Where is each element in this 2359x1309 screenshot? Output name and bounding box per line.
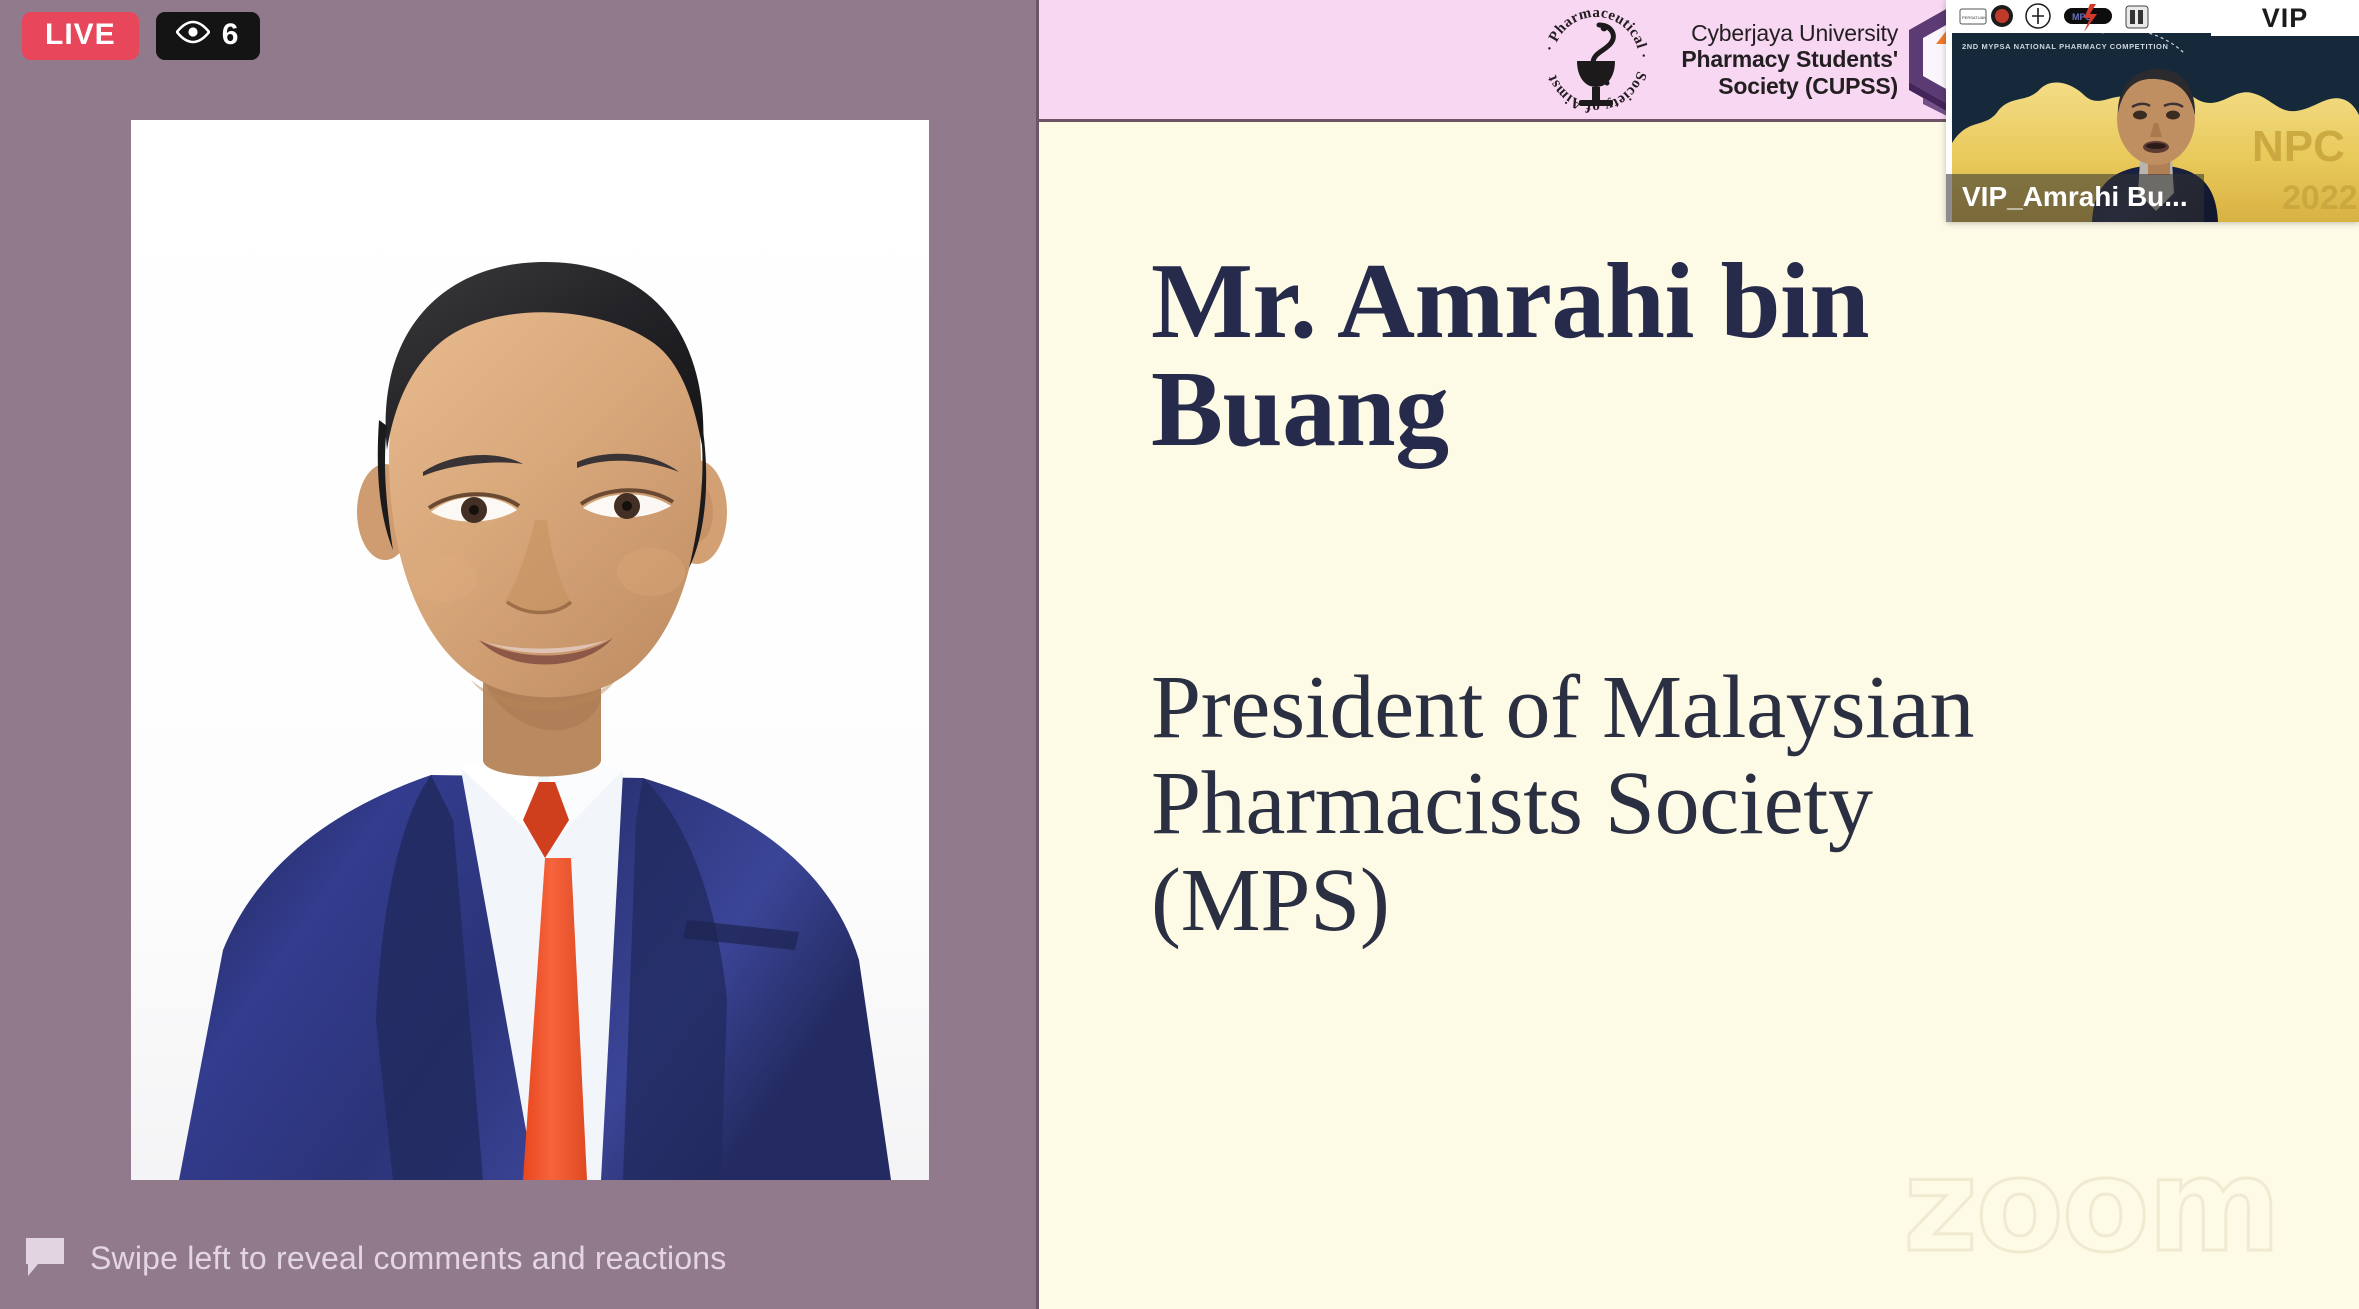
zoom-watermark: zoom (1903, 1143, 2279, 1271)
pip-background-year: 2022 (2282, 179, 2358, 217)
slide-subtitle: President of Malaysian Pharmacists Socie… (1151, 660, 2241, 949)
cupss-line-1: Cyberjaya University (1681, 20, 1898, 46)
pip-vip-tag: VIP (2211, 0, 2359, 36)
stream-status-overlay: LIVE 6 (22, 12, 260, 60)
swipe-hint-bar[interactable]: Swipe left to reveal comments and reacti… (22, 1234, 726, 1283)
speaker-portrait-image (131, 120, 929, 1180)
pip-participant-name: VIP_Amrahi Bu... (1946, 174, 2204, 222)
swipe-hint-text: Swipe left to reveal comments and reacti… (90, 1240, 726, 1277)
eye-icon (176, 20, 210, 50)
pip-vip-label: VIP (2262, 5, 2309, 32)
pip-event-title: 2ND MYPSA NATIONAL PHARMACY COMPETITION (1962, 42, 2168, 51)
cupss-line-2: Pharmacy Students' (1681, 46, 1898, 72)
pharmaceutical-society-of-aimst-logo: · Pharmaceutical · Society of Aimst (1537, 1, 1655, 119)
slide-title-line-2: Buang (1151, 356, 2161, 464)
viewer-count-pill: 6 (156, 12, 261, 60)
live-stream-stage: LIVE 6 (0, 0, 2359, 1309)
speech-bubble-icon (22, 1234, 68, 1283)
viewer-count-value: 6 (222, 20, 239, 50)
svg-text:PERSATUAN: PERSATUAN (1962, 15, 1986, 20)
cupss-line-3: Society (CUPSS) (1681, 73, 1898, 99)
svg-text:· Pharmaceutical ·: · Pharmaceutical · (1542, 4, 1651, 58)
slide-title-line-1: Mr. Amrahi bin (1151, 248, 2161, 356)
participant-video-thumbnail[interactable]: PERSATUAN MPS VIP (1946, 0, 2359, 222)
slide-subtitle-line-2: Pharmacists Society (1151, 756, 2241, 852)
pip-background-acronym: NPC (2252, 122, 2345, 171)
slide-subtitle-line-1: President of Malaysian (1151, 660, 2241, 756)
slide-title: Mr. Amrahi bin Buang (1151, 248, 2161, 464)
cupss-logo-text: Cyberjaya University Pharmacy Students' … (1681, 20, 1898, 99)
speaker-portrait-card (131, 120, 929, 1180)
pip-sponsor-logo-strip: PERSATUAN MPS (1952, 0, 2211, 33)
slide-subtitle-line-3: (MPS) (1151, 853, 2241, 949)
live-badge: LIVE (22, 12, 139, 60)
